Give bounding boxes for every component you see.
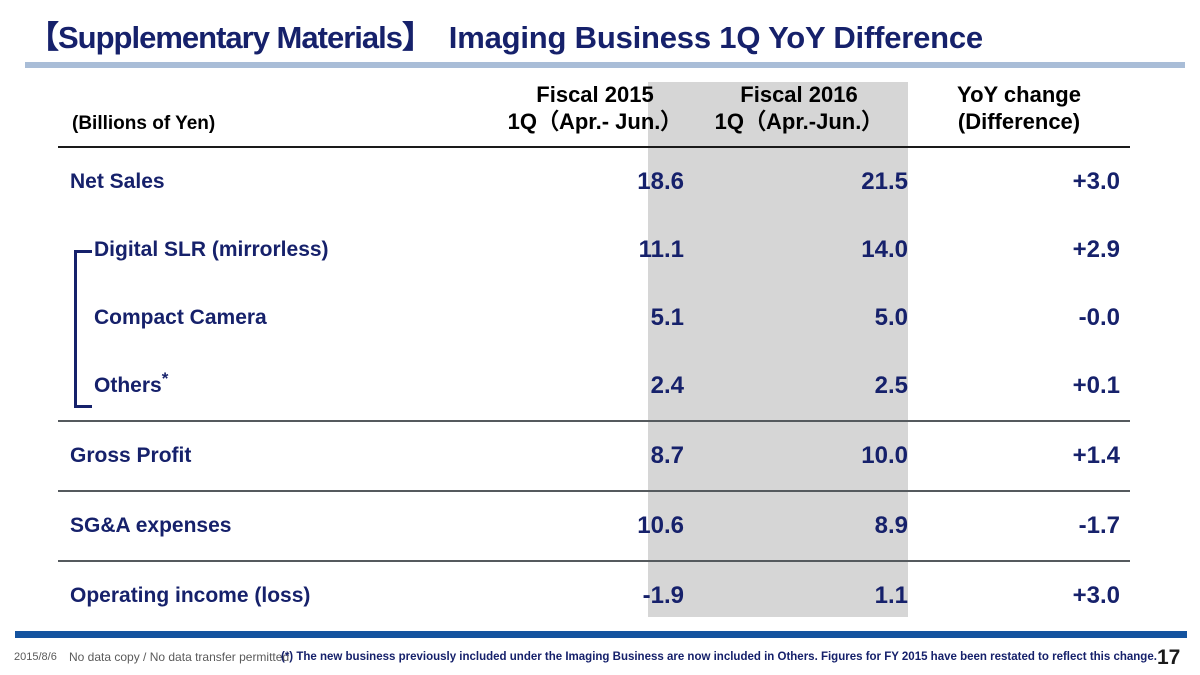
- imaging-business-yoy-table: (Billions of Yen) Fiscal 2015 1Q（Apr.- J…: [58, 82, 1130, 630]
- cell-sga-expenses-yoy: -1.7: [908, 491, 1130, 561]
- column-header-fiscal-2016-line2: 1Q（Apr.-Jun.）: [690, 109, 908, 136]
- cell-compact-camera-fy2016: 5.0: [690, 284, 908, 352]
- cell-net-sales-fy2015: 18.6: [500, 147, 690, 216]
- row-label-others-text: Others: [94, 374, 162, 397]
- cell-digital-slr-yoy: +2.9: [908, 216, 1130, 284]
- cell-gross-profit-fy2016: 10.0: [690, 421, 908, 491]
- cell-operating-income-fy2016: 1.1: [690, 561, 908, 630]
- table-row: Operating income (loss) -1.9 1.1 +3.0: [58, 561, 1130, 630]
- table-row: Others* 2.4 2.5 +0.1: [58, 352, 1130, 421]
- page-title: 【Supplementary Materials】 Imaging Busine…: [28, 16, 1188, 60]
- column-header-fiscal-2015-line2: 1Q（Apr.- Jun.）: [500, 109, 690, 136]
- column-header-fiscal-2015: Fiscal 2015 1Q（Apr.- Jun.）: [500, 82, 690, 147]
- table-row: Gross Profit 8.7 10.0 +1.4: [58, 421, 1130, 491]
- footnote-asterisk-marker: *: [162, 369, 169, 388]
- net-sales-breakdown-bracket: [74, 250, 92, 408]
- cell-compact-camera-yoy: -0.0: [908, 284, 1130, 352]
- cell-others-fy2016: 2.5: [690, 352, 908, 421]
- row-label-others: Others*: [58, 352, 500, 421]
- cell-others-fy2015: 2.4: [500, 352, 690, 421]
- cell-net-sales-yoy: +3.0: [908, 147, 1130, 216]
- row-label-net-sales: Net Sales: [58, 147, 500, 216]
- page-title-main-segment: Imaging Business 1Q YoY Difference: [449, 20, 983, 55]
- column-header-fiscal-2016-line1: Fiscal 2016: [690, 82, 908, 109]
- column-header-fiscal-2016: Fiscal 2016 1Q（Apr.-Jun.）: [690, 82, 908, 147]
- column-header-yoy-change-line1: YoY change: [908, 82, 1130, 109]
- column-header-yoy-change-line2: (Difference): [908, 109, 1130, 136]
- footer-date: 2015/8/6: [14, 651, 57, 663]
- table-row: SG&A expenses 10.6 8.9 -1.7: [58, 491, 1130, 561]
- column-header-yoy-change: YoY change (Difference): [908, 82, 1130, 147]
- cell-sga-expenses-fy2015: 10.6: [500, 491, 690, 561]
- cell-digital-slr-fy2015: 11.1: [500, 216, 690, 284]
- cell-operating-income-fy2015: -1.9: [500, 561, 690, 630]
- row-label-sga-expenses: SG&A expenses: [58, 491, 500, 561]
- cell-others-yoy: +0.1: [908, 352, 1130, 421]
- table-row: Digital SLR (mirrorless) 11.1 14.0 +2.9: [58, 216, 1130, 284]
- table-header-row: (Billions of Yen) Fiscal 2015 1Q（Apr.- J…: [58, 82, 1130, 147]
- column-header-fiscal-2015-line1: Fiscal 2015: [500, 82, 690, 109]
- cell-gross-profit-fy2015: 8.7: [500, 421, 690, 491]
- table-row: Compact Camera 5.1 5.0 -0.0: [58, 284, 1130, 352]
- cell-compact-camera-fy2015: 5.1: [500, 284, 690, 352]
- cell-sga-expenses-fy2016: 8.9: [690, 491, 908, 561]
- row-label-operating-income: Operating income (loss): [58, 561, 500, 630]
- footer-copy-notice: No data copy / No data transfer permitte…: [69, 650, 289, 664]
- table-row: Net Sales 18.6 21.5 +3.0: [58, 147, 1130, 216]
- financial-table-region: (Billions of Yen) Fiscal 2015 1Q（Apr.- J…: [0, 82, 1200, 622]
- cell-digital-slr-fy2016: 14.0: [690, 216, 908, 284]
- footnote-text: (*) The new business previously included…: [281, 651, 1157, 663]
- cell-operating-income-yoy: +3.0: [908, 561, 1130, 630]
- cell-net-sales-fy2016: 21.5: [690, 147, 908, 216]
- page-number: 17: [1157, 646, 1180, 670]
- footer-rule: [15, 631, 1187, 638]
- title-underline-rule: [25, 62, 1185, 68]
- column-header-units: (Billions of Yen): [58, 82, 500, 147]
- row-label-gross-profit: Gross Profit: [58, 421, 500, 491]
- cell-gross-profit-yoy: +1.4: [908, 421, 1130, 491]
- row-label-digital-slr: Digital SLR (mirrorless): [58, 216, 500, 284]
- row-label-compact-camera: Compact Camera: [58, 284, 500, 352]
- page-title-bracket-segment: 【Supplementary Materials】: [28, 20, 432, 55]
